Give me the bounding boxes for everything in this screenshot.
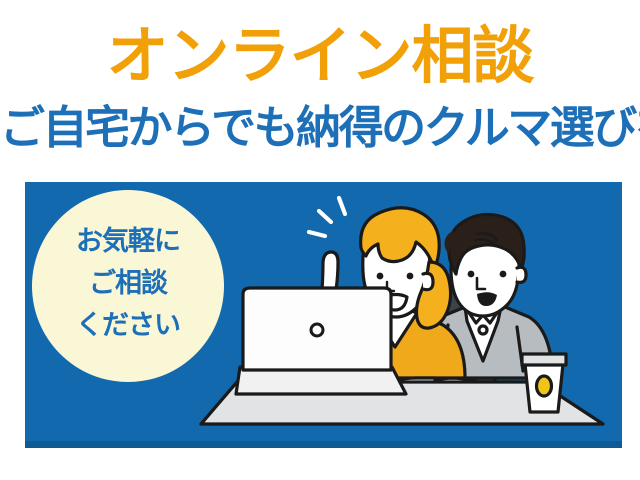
laptop-camera-dot <box>311 324 323 336</box>
coffee-cup-logo <box>537 376 552 396</box>
page-subtitle: ご自宅からでも納得のクルマ選びを <box>0 104 640 152</box>
page-title: オンライン相談 <box>0 26 640 88</box>
speech-bubble-text: お気軽に ご相談 ください <box>32 220 224 346</box>
sparkle-icon <box>309 198 345 236</box>
coffee-cup-lid <box>522 354 566 365</box>
illustration-panel: お気軽に ご相談 ください <box>25 182 622 448</box>
online-consultation-banner: オンライン相談 ご自宅からでも納得のクルマ選びを <box>0 0 640 480</box>
panel-bottom-shadow <box>25 441 622 448</box>
